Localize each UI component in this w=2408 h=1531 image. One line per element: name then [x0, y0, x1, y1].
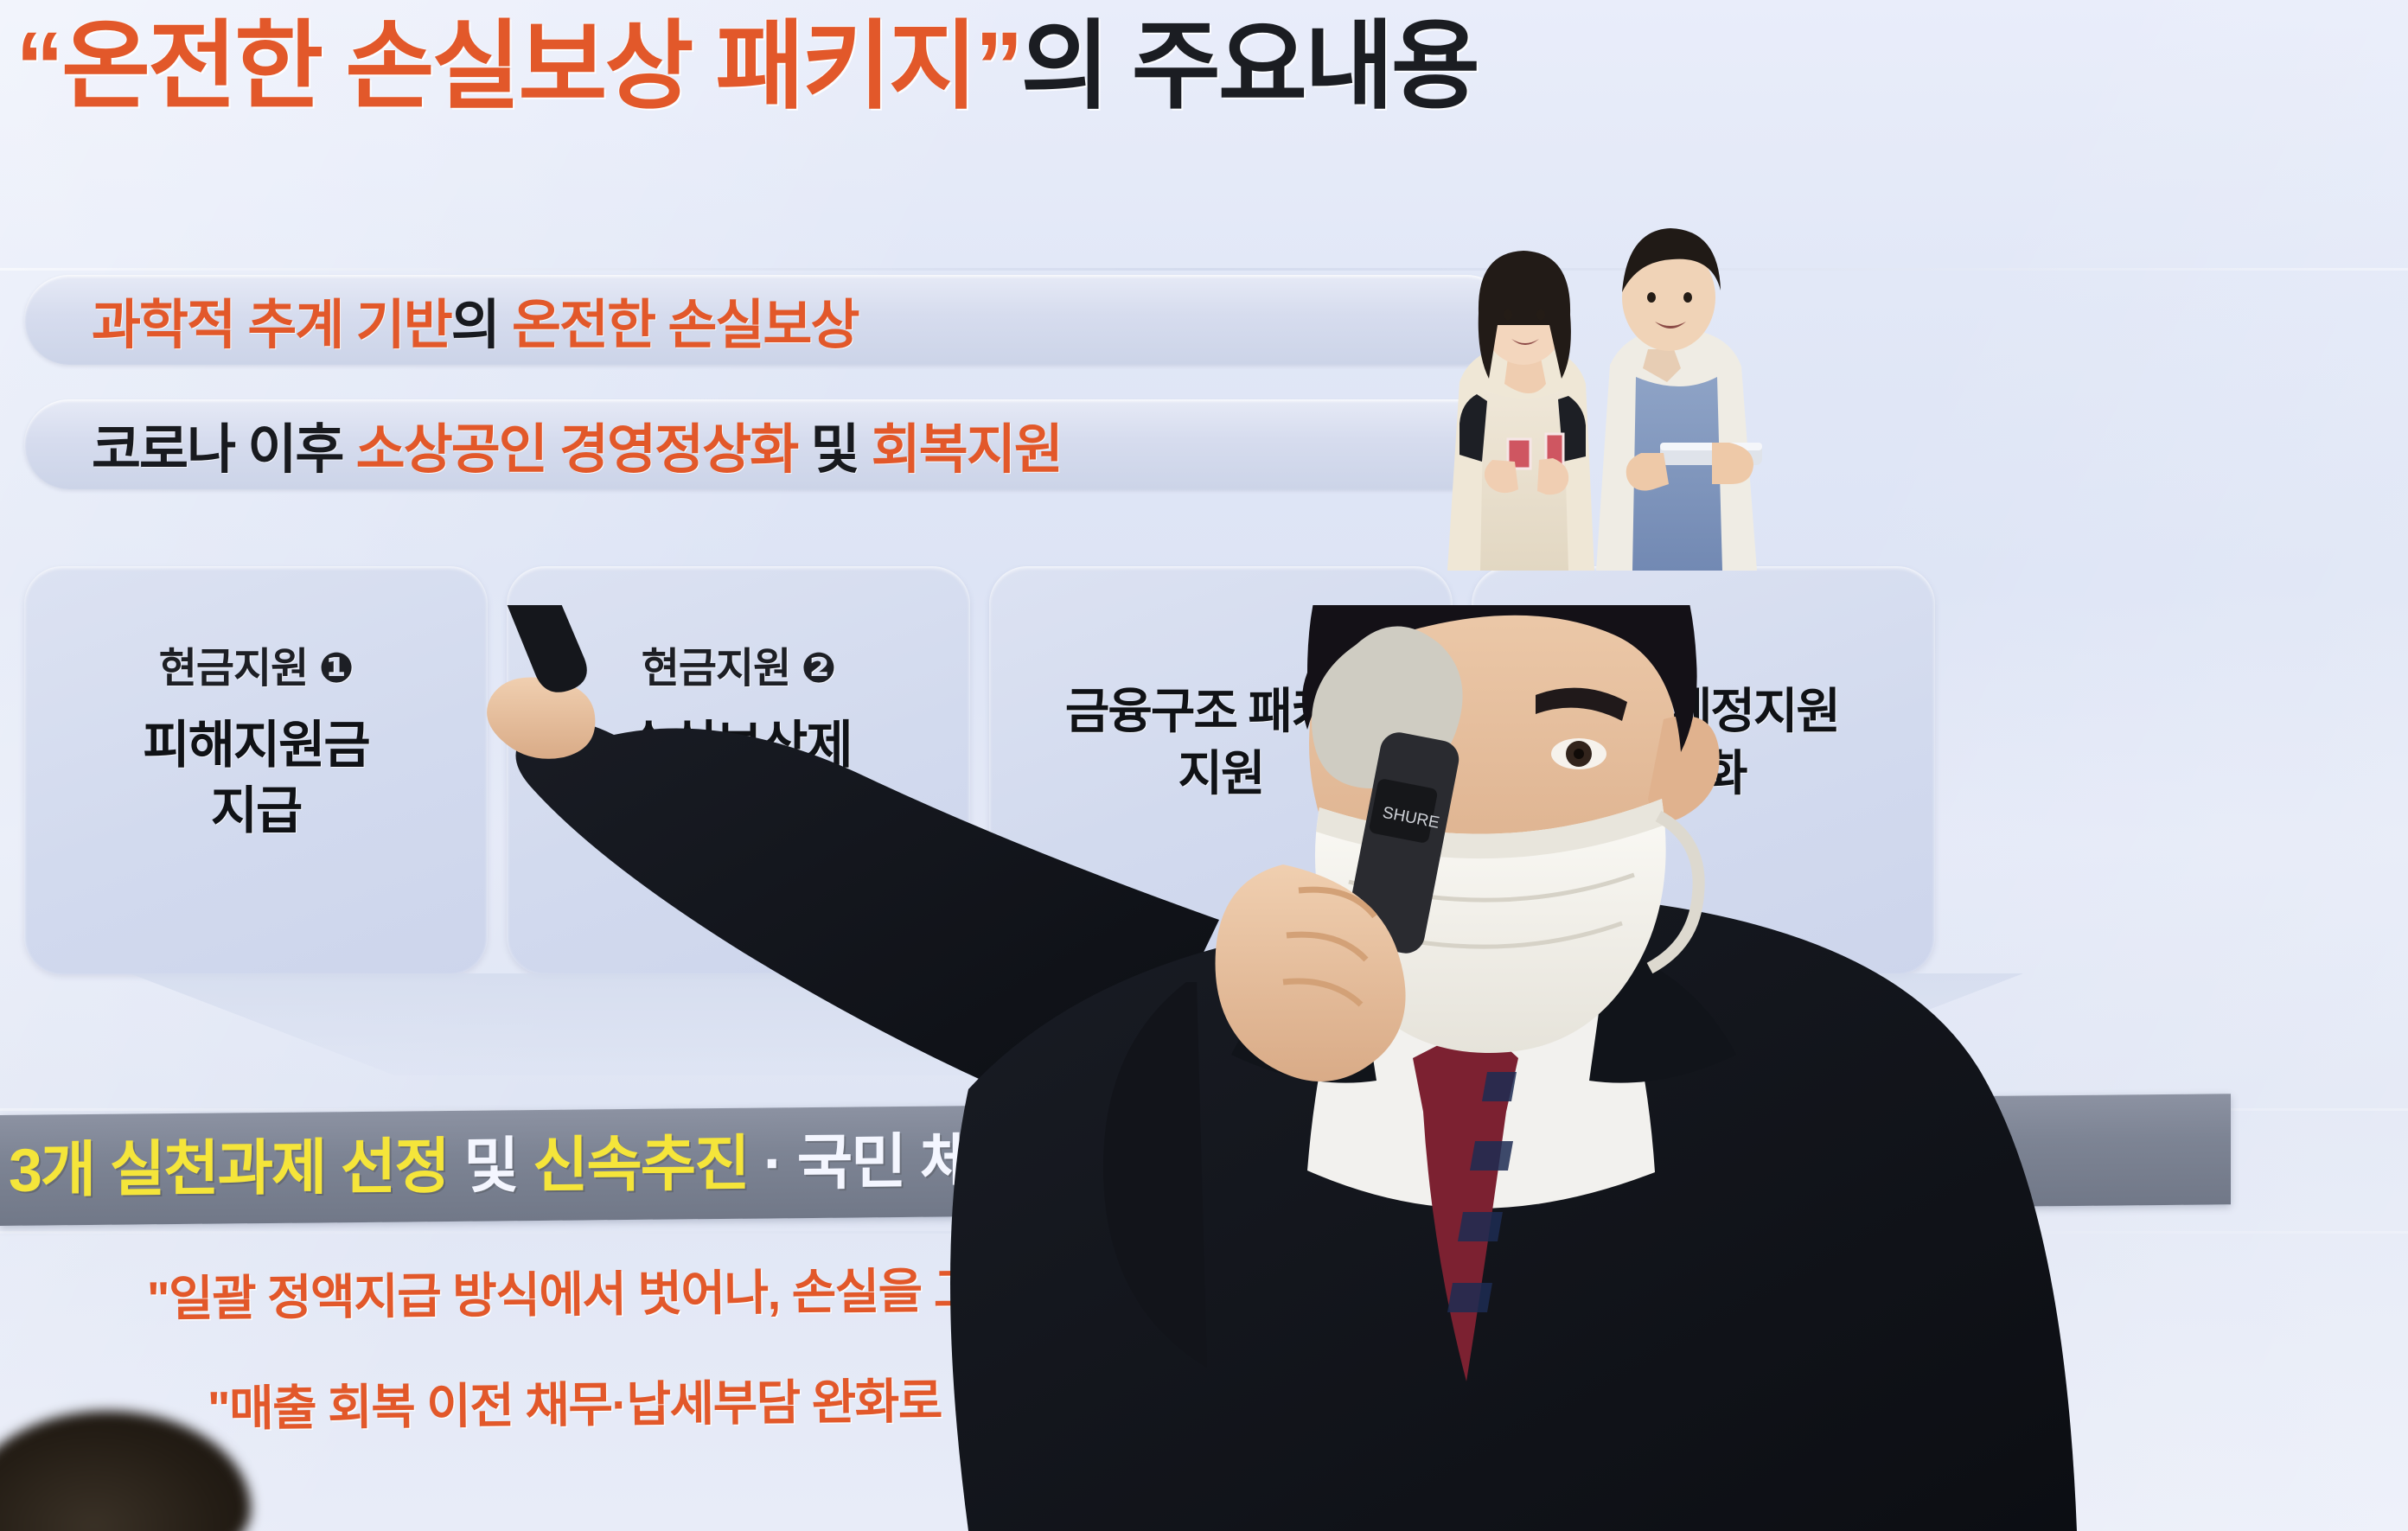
banner-seg-yellow-1: 3개 실천과제 선정: [9, 1132, 463, 1204]
banner-seg-white-1: 및: [463, 1132, 533, 1200]
measure-card-tax-support: 세제·세정지원 강화: [1472, 566, 1935, 974]
card-2-line-1: 손실보상제: [625, 713, 851, 779]
pill-2-seg-1: 소상공인 경영정상화: [356, 420, 798, 480]
headline-rest-text: 의 주요내용: [1021, 12, 1478, 120]
screenshot-root: “온전한 손실보상 패키지”의 주요내용 과학적 추계 기반의 온전한 손실보상…: [0, 0, 2408, 1531]
headline-quoted-text: “온전한 손실보상 패키지”: [16, 12, 1021, 120]
card-4-line-2: 강화: [1660, 743, 1746, 805]
pill-2-seg-3: 회복지원: [872, 420, 1062, 480]
pill-1-seg-2: 온전한 손실보상: [499, 296, 859, 355]
measure-card-cash-support-2: 현금지원 ❷ 손실보상제 강화: [507, 566, 970, 974]
board-seam-lower: [0, 1231, 2408, 1234]
board-headline: “온전한 손실보상 패키지”의 주요내용: [16, 16, 1478, 118]
action-task-banner: 3개 실천과제 선정 및 신속추진 · 국민 체감성과: [0, 1094, 2231, 1226]
card-3-line-1: 금융구조 패키지: [1065, 680, 1376, 743]
pill-row-1: 과학적 추계 기반의 온전한 손실보상: [24, 275, 1511, 365]
card-4-line-1: 세제·세정지원: [1568, 680, 1839, 743]
pill-1-seg-1: 의: [451, 296, 499, 355]
card-1-kicker: 현금지원 ❶: [159, 634, 354, 694]
banner-seg-white-2: · 국민 체감성과: [749, 1126, 1136, 1196]
shopkeeper-female: [1447, 251, 1594, 571]
shopkeeper-male: [1596, 228, 1762, 571]
banner-text: 3개 실천과제 선정 및 신속추진 · 국민 체감성과: [9, 1129, 1136, 1201]
board-seam-top: [0, 268, 2408, 271]
pill-2-text: 코로나 이후 소상공인 경영정상화 및 회복지원: [92, 405, 1062, 483]
pill-1-seg-0: 과학적 추계 기반: [92, 296, 451, 355]
measure-card-finance-package: 금융구조 패키지 지원: [989, 566, 1453, 974]
pill-row-2: 코로나 이후 소상공인 경영정상화 및 회복지원: [24, 399, 1511, 489]
pill-2-seg-2: 및: [797, 420, 872, 480]
two-shopkeepers-photo: [1425, 183, 1797, 571]
card-1-line-1: 피해지원금: [143, 713, 368, 779]
card-3-line-2: 지원: [1178, 743, 1263, 805]
presentation-board: “온전한 손실보상 패키지”의 주요내용 과학적 추계 기반의 온전한 손실보상…: [0, 0, 2408, 1531]
measure-card-cash-support-1: 현금지원 ❶ 피해지원금 지급: [24, 566, 488, 974]
card-1-line-2: 지급: [211, 779, 302, 845]
pill-2-seg-0: 코로나 이후: [92, 420, 356, 480]
card-2-line-2: 강화: [693, 779, 784, 845]
board-quote-1: "일괄 정액지급 방식에서 벗어나, 손실을 고려하여": [147, 1250, 1129, 1330]
banner-seg-yellow-2: 신속추진: [533, 1130, 749, 1199]
pill-1-text: 과학적 추계 기반의 온전한 손실보상: [92, 281, 859, 359]
measure-card-row: 현금지원 ❶ 피해지원금 지급 현금지원 ❷ 손실보상제 강화 금융구조 패키지…: [24, 566, 1935, 974]
card-to-banner-funnel: [130, 973, 2023, 1075]
card-2-kicker: 현금지원 ❷: [642, 634, 836, 694]
board-quote-2: "매출 회복 이전 채무·납세부담 완화로 회복과 성장에 집중": [208, 1358, 1346, 1440]
